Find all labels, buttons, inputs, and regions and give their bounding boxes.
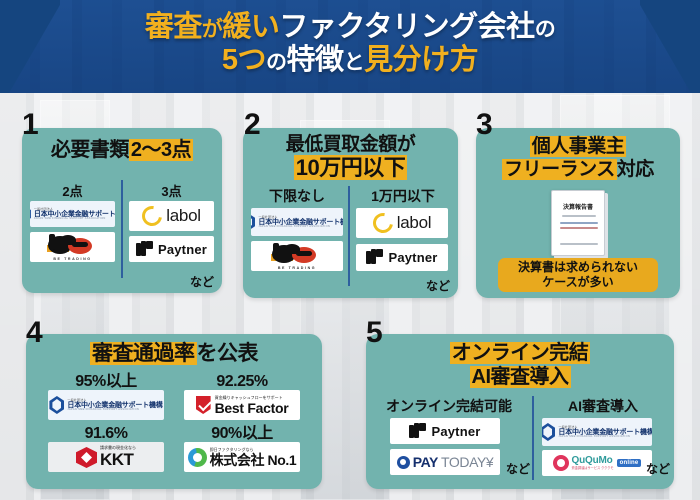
logo-label-text: BE TRADING xyxy=(46,257,100,261)
logo-word-text: labol xyxy=(397,213,431,233)
logo-word-text: Paytner xyxy=(431,424,480,439)
logo-nihon-chusho-kigyo: 一般社団法人 日本中小企業金融サポート機構 JAPAN SME FINANCIA… xyxy=(48,390,164,420)
card-5-title-line1: オンライン完結 xyxy=(450,342,591,364)
card-2-title-hl-wrap: 10万円以下 xyxy=(243,156,458,181)
card-number-3: 3 xyxy=(476,110,493,140)
diamond-icon xyxy=(542,423,555,441)
card-3-note-line1: 決算書は求められない xyxy=(518,260,638,275)
logo-word-text: Paytner xyxy=(388,250,437,265)
card-5-col2-footnote: など xyxy=(646,460,670,477)
title-part-ga: が xyxy=(202,18,223,41)
financial-statement-document-illustration: 決算報告書 xyxy=(551,190,605,256)
card-3-note-line2: ケースが多い xyxy=(518,275,638,290)
card-2-title-plain: 最低買取金額が xyxy=(286,134,416,155)
card-approval-rate-published: 審査通過率を公表 95%以上 一般社団法人 日本中小企業金融サポート機構 JAP… xyxy=(26,334,322,489)
title-part-miwakekata: 見分け方 xyxy=(364,44,478,76)
card-2-col2-head: 1万円以下 xyxy=(355,186,451,206)
card-4-pct-3: 91.6% xyxy=(42,426,170,442)
doc-title-text: 決算報告書 xyxy=(552,202,604,211)
card-1-footnote: など xyxy=(190,273,214,290)
logo-word-text: 株式会社 No.1 xyxy=(210,453,297,467)
card-3-title-line2-highlight: フリーランス xyxy=(502,159,617,180)
logo-nihon-chusho-kigyo: 一般社団法人 日本中小企業金融サポート機構 JAPAN SME FINANCIA… xyxy=(251,208,343,236)
card-minimum-purchase-amount: 最低買取金額が 10万円以下 下限なし 1万円以下 一般社団法人 日本中小企業金… xyxy=(243,128,458,298)
card-5-col1-head: オンライン完結可能 xyxy=(370,396,528,416)
card-4-title: 審査通過率を公表 xyxy=(26,342,322,366)
paytner-layers-icon xyxy=(136,241,153,258)
card-2-col1-head: 下限なし xyxy=(249,186,345,206)
ququmo-icon xyxy=(553,455,569,471)
logo-nihon-chusho-kigyo: 一般社団法人 日本中小企業金融サポート機構 JAPAN SME FINANCIA… xyxy=(542,418,652,446)
title-part-no: の xyxy=(535,18,556,41)
logo-word-text: Paytner xyxy=(158,242,207,257)
card-3-note-box: 決算書は求められない ケースが多い xyxy=(498,258,658,292)
card-4-title-highlight: 審査通過率 xyxy=(90,342,197,365)
logo-nihon-chusho-kigyo: 一般社団法人 日本中小企業金融サポート機構 JAPAN SME FINANCIA… xyxy=(30,201,115,227)
logo-label-text: BE TRADING xyxy=(270,266,324,270)
logo-kkt: 請求書の現金化なら KKT xyxy=(48,442,164,472)
logo-online-badge: online xyxy=(617,459,642,467)
card-4-pct-1: 95%以上 xyxy=(42,374,170,390)
card-5-col2-head: AI審査導入 xyxy=(538,396,668,416)
logo-word-text: Best Factor xyxy=(215,401,289,415)
logo-word-text: QuQuMo xyxy=(572,456,614,467)
card-5-title-line1-wrap: オンライン完結 xyxy=(366,342,674,364)
logo-sub-text: JAPAN SME FINANCIAL SUPPORT ASSOCIATION xyxy=(67,409,162,412)
logo-tiny-text: 即日ファクタリングなら xyxy=(210,448,297,452)
card-2-title-highlight: 10万円以下 xyxy=(294,155,407,180)
card-number-5: 5 xyxy=(366,318,383,348)
logo-paytoday: PAYTODAY¥ xyxy=(390,449,500,475)
logo-sub-text: 資金調達はサービス クククモ xyxy=(572,467,614,470)
page-title: 審査が緩いファクタリング会社の 5つの特徴と見分け方 xyxy=(0,0,700,77)
title-part-shinsa: 審査 xyxy=(145,11,202,43)
logo-word-text: KKT xyxy=(100,451,136,468)
card-3-title-line2-plain: 対応 xyxy=(617,159,654,180)
diamond-icon xyxy=(251,213,255,231)
logo-labol: labol xyxy=(356,208,448,238)
logo-paytner: Paytner xyxy=(390,418,500,444)
logo-sub-text: JAPAN SME FINANCIAL SUPPORT ASSOCIATION xyxy=(558,436,652,439)
paytner-layers-icon xyxy=(366,249,383,266)
card-required-documents: 必要書類2〜3点 2点 3点 一般社団法人 日本中小企業金融サポート機構 JAP… xyxy=(22,128,222,293)
logo-today-text: TODAY¥ xyxy=(441,454,493,470)
paytner-layers-icon xyxy=(409,423,426,440)
check-shield-icon xyxy=(196,395,212,415)
title-part-factoring: ファクタリング会社 xyxy=(279,11,534,43)
logo-paytner: Paytner xyxy=(129,236,214,262)
logo-be-trading: BE TRADING xyxy=(251,241,343,271)
card-5-title-line2-wrap: AI審査導入 xyxy=(366,366,674,388)
card-2-divider xyxy=(348,186,350,286)
logo-paytner: Paytner xyxy=(356,244,448,271)
card-1-col1-head: 2点 xyxy=(30,181,115,200)
logo-pay-text: PAY xyxy=(413,454,438,470)
logo-sub-text: JAPAN SME FINANCIAL SUPPORT ASSOCIATION xyxy=(34,218,115,221)
title-part-yurui: 緩い xyxy=(222,11,279,43)
logo-kabushiki-gaisha-no1: 即日ファクタリングなら 株式会社 No.1 xyxy=(184,442,300,472)
circular-swirl-icon xyxy=(188,448,207,467)
labol-circle-icon xyxy=(369,209,397,237)
card-1-title-plain: 必要書類 xyxy=(51,139,129,161)
labol-circle-icon xyxy=(138,202,166,230)
card-1-col2-head: 3点 xyxy=(129,181,214,200)
card-2-title: 最低買取金額が xyxy=(243,134,458,155)
logo-labol: labol xyxy=(129,201,214,231)
title-part-five: 5つ xyxy=(222,44,266,76)
kkt-diamond-icon xyxy=(76,447,97,468)
card-number-1: 1 xyxy=(22,110,39,140)
logo-word-text: labol xyxy=(166,206,200,226)
logo-be-trading: BE TRADING xyxy=(30,232,115,262)
card-3-title-line1-wrap: 個人事業主 xyxy=(476,136,680,157)
diamond-icon xyxy=(49,396,64,414)
card-5-divider xyxy=(532,396,534,480)
infographic-page: 審査が緩いファクタリング会社の 5つの特徴と見分け方 1 必要書類2〜3点 2点… xyxy=(0,0,700,500)
be-trading-mark: BE TRADING xyxy=(46,234,100,260)
header-banner: 審査が緩いファクタリング会社の 5つの特徴と見分け方 xyxy=(0,0,700,93)
card-2-footnote: など xyxy=(426,277,450,294)
card-4-pct-2: 92.25% xyxy=(178,374,306,390)
logo-sub-text: JAPAN SME FINANCIAL SUPPORT ASSOCIATION xyxy=(258,226,343,229)
card-5-col1-footnote: など xyxy=(506,460,530,477)
card-sole-proprietor-freelance: 個人事業主 フリーランス対応 決算報告書 決算書は求められない ケースが多い xyxy=(476,128,680,298)
card-3-title-line1: 個人事業主 xyxy=(530,136,627,157)
card-3-title-line2-wrap: フリーランス対応 xyxy=(476,159,680,180)
logo-best-factor: 資金繰りキャッシュフローをサポート Best Factor xyxy=(184,390,300,420)
be-trading-mark: BE TRADING xyxy=(270,243,324,269)
card-number-2: 2 xyxy=(244,110,261,140)
logo-ququmo-online: QuQuMo 資金調達はサービス クククモ online xyxy=(542,450,652,476)
card-4-title-plain: を公表 xyxy=(197,342,259,365)
card-online-ai-screening: オンライン完結 AI審査導入 オンライン完結可能 AI審査導入 Paytner … xyxy=(366,334,674,489)
card-1-title-highlight: 2〜3点 xyxy=(129,139,193,161)
card-number-4: 4 xyxy=(26,318,43,348)
card-1-divider xyxy=(121,180,123,278)
card-1-title: 必要書類2〜3点 xyxy=(22,139,222,161)
title-part-tokuchou: 特徴 xyxy=(287,44,344,76)
title-part-no2: の xyxy=(266,51,287,74)
paytoday-circle-icon xyxy=(397,456,410,469)
card-4-pct-4: 90%以上 xyxy=(178,426,306,442)
title-part-to: と xyxy=(344,51,365,74)
card-5-title-line2: AI審査導入 xyxy=(470,366,571,388)
diamond-icon xyxy=(30,205,31,223)
